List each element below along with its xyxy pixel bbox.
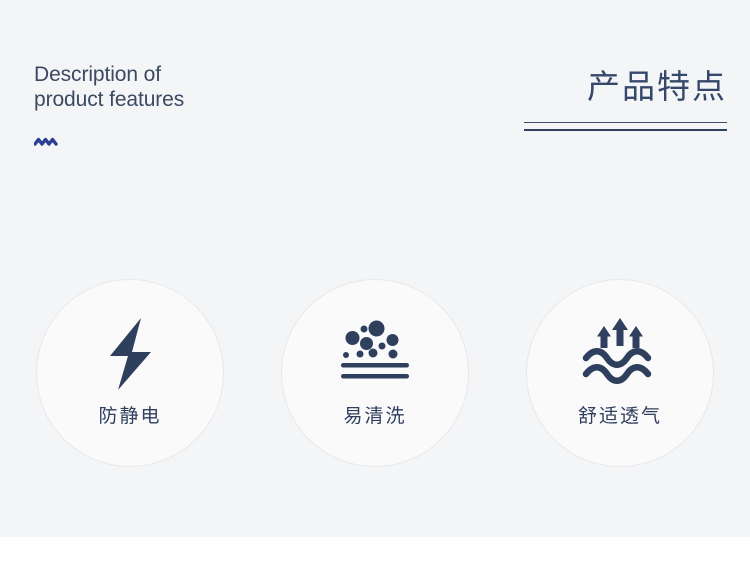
feature-label: 舒适透气	[578, 406, 662, 428]
page-title-chinese: 产品特点	[477, 66, 727, 108]
title-underline-group	[524, 122, 727, 131]
content-panel: Description of product features 产品特点	[0, 0, 750, 537]
feature-list: 防静电	[0, 279, 750, 469]
feature-item-easy-clean[interactable]: 易清洗	[281, 279, 469, 467]
page-title-english: Description of product features	[34, 62, 334, 112]
feature-label: 防静电	[98, 406, 161, 428]
header-right-block: 产品特点	[477, 66, 727, 131]
title-underline-thick	[524, 129, 727, 131]
dust-particles-over-surface-icon	[335, 316, 415, 392]
zigzag-wave-decoration-icon	[34, 136, 64, 148]
airflow-arrows-over-waves-icon	[580, 316, 660, 392]
header-left-block: Description of product features	[34, 62, 334, 148]
product-features-page: Description of product features 产品特点	[0, 0, 750, 563]
title-underline-thin	[524, 122, 727, 123]
feature-item-breathable[interactable]: 舒适透气	[526, 279, 714, 467]
lightning-bolt-icon	[96, 316, 164, 392]
feature-item-anti-static[interactable]: 防静电	[36, 279, 224, 467]
feature-label: 易清洗	[343, 406, 406, 428]
